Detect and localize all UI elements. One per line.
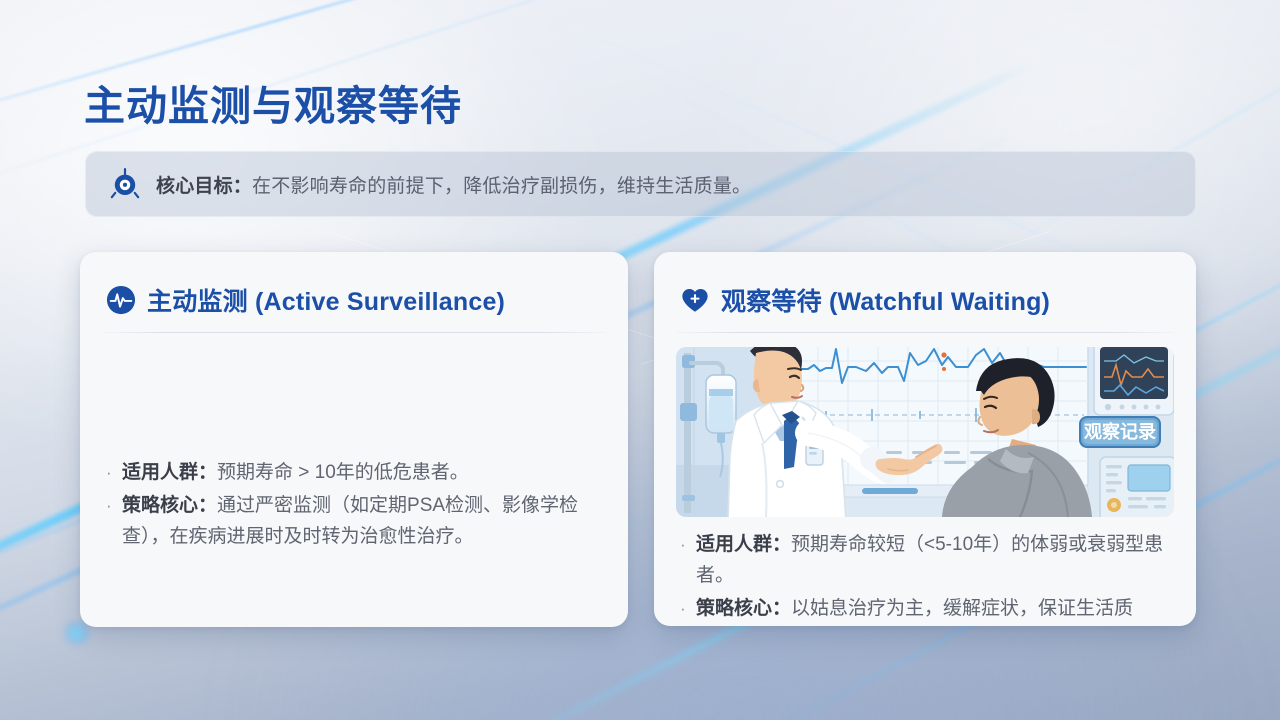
list-item: · 策略核心：以姑息治疗为主，缓解症状，保证生活质量。: [680, 593, 1170, 626]
bullet-label: 策略核心：: [696, 598, 791, 619]
card-bullet-list: · 适用人群：预期寿命较短（<5-10年）的体弱或衰弱型患者。 · 策略核心：以…: [654, 529, 1196, 626]
card-header: 主动监测 (Active Surveillance): [80, 252, 628, 318]
bullet-marker: ·: [680, 593, 696, 624]
bullet-marker: ·: [106, 490, 122, 521]
pulse-icon: [106, 285, 136, 315]
page-title: 主动监测与观察等待: [84, 72, 462, 132]
card-bullet-list: · 适用人群：预期寿命 > 10年的低危患者。 · 策略核心：通过严密监测（如定…: [80, 457, 628, 552]
bullet-marker: ·: [680, 529, 696, 560]
bullet-label: 策略核心：: [122, 495, 217, 516]
list-item: · 适用人群：预期寿命较短（<5-10年）的体弱或衰弱型患者。: [680, 529, 1170, 591]
core-goal-body: 在不影响寿命的前提下，降低治疗副损伤，维持生活质量。: [252, 176, 751, 197]
bullet-label: 适用人群：: [122, 462, 217, 483]
card-title: 观察等待 (Watchful Waiting): [721, 282, 1050, 318]
card-title: 主动监测 (Active Surveillance): [147, 282, 505, 318]
bullet-text: 策略核心：通过严密监测（如定期PSA检测、影像学检查），在疾病进展时及时转为治愈…: [122, 490, 602, 552]
card-illustration: 观察记录: [676, 347, 1174, 517]
bullet-text: 适用人群：预期寿命较短（<5-10年）的体弱或衰弱型患者。: [696, 529, 1170, 591]
heart-plus-icon: [680, 285, 710, 315]
card-divider: [102, 332, 606, 333]
core-goal-banner: 核心目标：在不影响寿命的前提下，降低治疗副损伤，维持生活质量。: [85, 151, 1196, 217]
bullet-text: 策略核心：以姑息治疗为主，缓解症状，保证生活质量。: [696, 593, 1170, 626]
slide-canvas: 主动监测与观察等待 核心目标：在不影响寿命的前提下，降低治疗副损伤，维持生活质量…: [0, 0, 1280, 720]
target-icon: [108, 167, 142, 201]
svg-text:观察记录: 观察记录: [1084, 421, 1156, 442]
bullet-label: 适用人群：: [696, 534, 791, 555]
doctor-patient-monitor-illustration: 观察记录: [676, 347, 1174, 517]
bullet-body: 预期寿命 > 10年的低危患者。: [217, 462, 469, 483]
bullet-text: 适用人群：预期寿命 > 10年的低危患者。: [122, 457, 602, 488]
bullet-marker: ·: [106, 457, 122, 488]
observation-record-badge: 观察记录: [1080, 417, 1160, 447]
core-goal-text: 核心目标：在不影响寿命的前提下，降低治疗副损伤，维持生活质量。: [156, 171, 751, 198]
list-item: · 策略核心：通过严密监测（如定期PSA检测、影像学检查），在疾病进展时及时转为…: [106, 490, 602, 552]
card-illustration-placeholder: [102, 347, 606, 419]
card-active-surveillance[interactable]: 主动监测 (Active Surveillance) · 适用人群：预期寿命 >…: [80, 252, 628, 627]
card-watchful-waiting[interactable]: 观察等待 (Watchful Waiting): [654, 252, 1196, 626]
list-item: · 适用人群：预期寿命 > 10年的低危患者。: [106, 457, 602, 488]
core-goal-label: 核心目标：: [156, 176, 252, 197]
card-header: 观察等待 (Watchful Waiting): [654, 252, 1196, 318]
card-divider: [676, 332, 1174, 333]
